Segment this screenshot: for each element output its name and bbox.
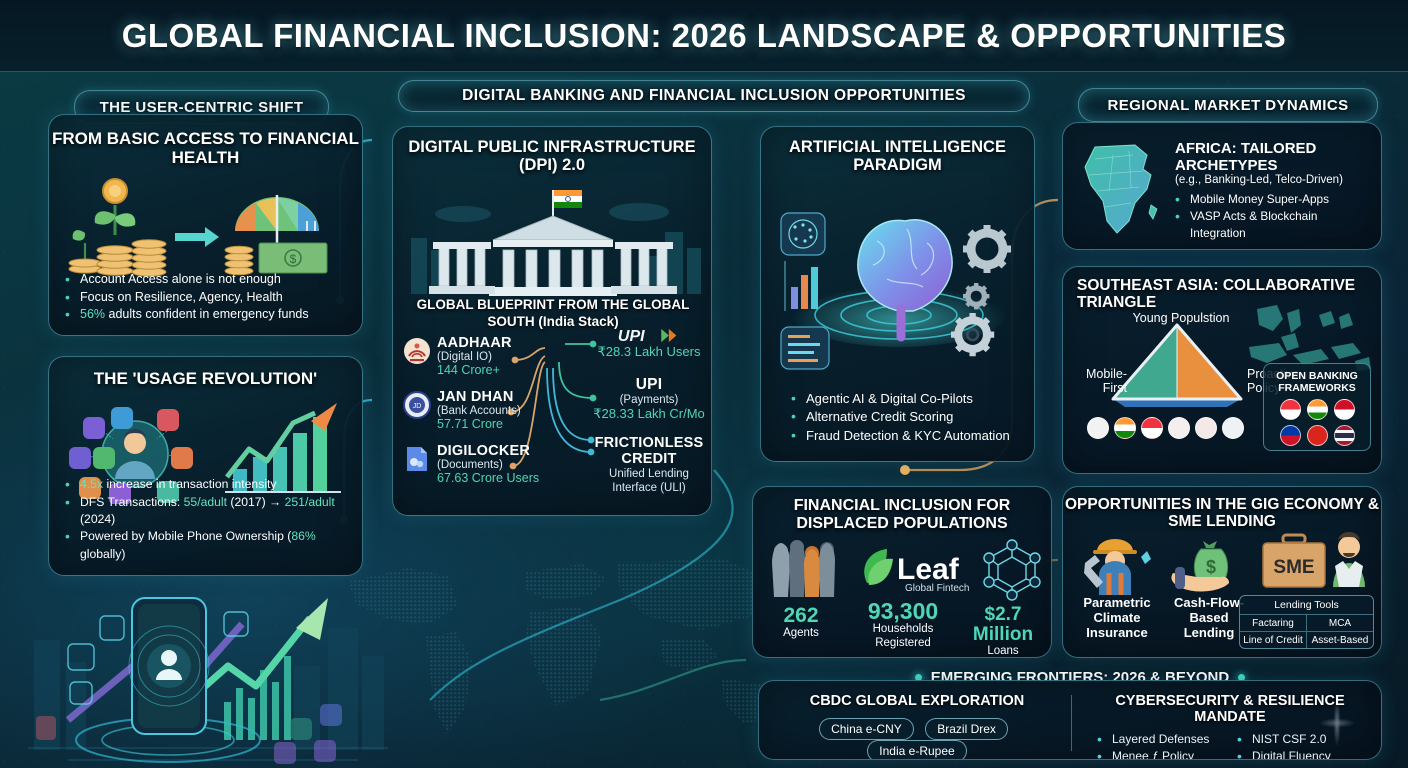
list-item: 4.5x increase in transaction intensity	[65, 476, 362, 493]
stack-name: FRICTIONLESS CREDIT	[589, 436, 709, 468]
philippines-flag	[1280, 425, 1301, 446]
stack-sub: (Documents)	[437, 459, 547, 471]
sme-briefcase-icon: SME	[1257, 531, 1377, 593]
usage-revolution-bullets: 4.5x increase in transaction intensity D…	[65, 476, 362, 563]
card-africa: AFRICA: TAILORED ARCHETYPES (e.g., Banki…	[1062, 122, 1382, 250]
stat-value: 93,300	[849, 599, 957, 623]
cyber-title: CYBERSECURITY & RESILIENCE MANDATE	[1083, 693, 1377, 725]
umbrella-savings-icon: $	[225, 195, 327, 275]
cyber-block: CYBERSECURITY & RESILIENCE MANDATE Layer…	[1083, 693, 1377, 760]
stack-name: AADHAAR	[437, 335, 547, 351]
list-item: Powered by Mobile Phone Ownership (86% g…	[65, 528, 362, 563]
upi-logo-icon: UPI	[616, 327, 682, 344]
list-item: Account Access alone is not enough	[65, 271, 309, 289]
triangle-label-left: Mobile-First	[1069, 367, 1127, 396]
aadhaar-icon	[403, 337, 431, 365]
africa-text-block: AFRICA: TAILORED ARCHETYPES (e.g., Banki…	[1175, 141, 1371, 241]
coin-plant-umbrella-illustration: $	[49, 173, 363, 285]
open-banking-flag-row-2	[1264, 425, 1370, 446]
card-title-ai: ARTIFICIAL INTELLIGENCE PARADIGM	[761, 138, 1034, 175]
stack-name: JAN DHAN	[437, 389, 547, 405]
card-title-dpi: DIGITAL PUBLIC INFRASTRUCTURE (DPI) 2.0	[393, 138, 711, 175]
stat-agents: 262 Agents	[763, 605, 839, 641]
cyber-bullets-left: Layered Defenses Menee ƒ Policy	[1097, 731, 1227, 760]
page-header: GLOBAL FINANCIAL INCLUSION: 2026 LANDSCA…	[0, 0, 1408, 72]
stat-value: 262	[763, 605, 839, 627]
stack-value: ₹28.3 Lakh Users	[589, 344, 709, 360]
card-financial-health: FROM BASIC ACCESS TO FINANCIAL HEALTH	[48, 114, 363, 336]
list-item: Alternative Credit Scoring	[791, 408, 1010, 426]
vietnam-badge	[1195, 417, 1217, 439]
cyber-bullet-columns: Layered Defenses Menee ƒ Policy NIST CSF…	[1083, 731, 1377, 760]
list-item: Layered Defenses	[1097, 731, 1227, 748]
blockchain-cube-icon	[981, 539, 1043, 601]
stack-item-digilocker: DIGILOCKER (Documents) 67.63 Crore Users	[437, 443, 547, 485]
stack-name: DIGILOCKER	[437, 443, 547, 459]
card-title-displaced: FINANCIAL INCLUSION FOR DISPLACED POPULA…	[753, 497, 1051, 533]
stat-value: $2.7 Million	[957, 605, 1049, 645]
card-gig-economy: OPPORTUNITIES IN THE GIG ECONOMY & SME L…	[1062, 486, 1382, 658]
table-row: Line of Credit Asset-Based	[1240, 631, 1373, 648]
stat-caption: Agents	[763, 627, 839, 641]
pill-india-erupee[interactable]: India e-Rupee	[867, 740, 966, 760]
card-emerging-frontiers: CBDC GLOBAL EXPLORATION China e-CNY Braz…	[758, 680, 1382, 760]
stack-item-aadhaar: AADHAAR (Digital IO) 144 Crore+	[437, 335, 547, 377]
gear-icon	[963, 225, 1011, 273]
svg-text:$: $	[1206, 557, 1216, 577]
list-item: Focus on Resilience, Agency, Health	[65, 289, 309, 307]
cbdc-block: CBDC GLOBAL EXPLORATION China e-CNY Braz…	[769, 693, 1065, 760]
card-title-financial-health: FROM BASIC ACCESS TO FINANCIAL HEALTH	[49, 129, 362, 167]
table-cell: Line of Credit	[1240, 632, 1306, 648]
cbdc-title: CBDC GLOBAL EXPLORATION	[769, 693, 1065, 709]
card-ai-paradigm: ARTIFICIAL INTELLIGENCE PARADIGM	[760, 126, 1035, 462]
open-banking-flag-row-1	[1264, 399, 1370, 420]
stack-sub: Unified Lending Interface (ULI)	[589, 468, 709, 496]
stack-name: UPI	[589, 376, 709, 394]
africa-subtitle: (e.g., Banking-Led, Telco-Driven)	[1175, 174, 1371, 186]
dpi-left-column: AADHAAR (Digital IO) 144 Crore+ JD JAN D…	[437, 335, 547, 494]
list-item: Fraud Detection & KYC Automation	[791, 427, 1010, 445]
section-label-digital-banking: DIGITAL BANKING AND FINANCIAL INCLUSION …	[398, 80, 1030, 112]
list-item: VASP Acts & Blockchain Integration	[1175, 208, 1371, 242]
stack-item-jandhan: JD JAN DHAN (Bank Accounts) 57.71 Crore	[437, 389, 547, 431]
stack-sub: (Digital IO)	[437, 351, 547, 363]
stack-value: 144 Crore+	[437, 363, 547, 377]
stack-sub: (Payments)	[589, 394, 709, 406]
africa-title: AFRICA: TAILORED ARCHETYPES	[1175, 141, 1371, 174]
singapore-badge	[1141, 417, 1163, 439]
cbdc-pill-row: China e-CNY Brazil Drex India e-Rupee	[769, 718, 1065, 760]
lending-tools-table: Lending Tools Factaring MCA Line of Cred…	[1239, 595, 1374, 649]
gig-caption-parametric: Parametric Climate Insurance	[1069, 595, 1165, 640]
ai-brain-illustration	[767, 187, 1031, 387]
sme-label: SME	[1273, 557, 1314, 578]
country-badge-row	[1087, 417, 1244, 439]
financial-health-bullets: Account Access alone is not enough Focus…	[65, 271, 309, 324]
table-row: Factaring MCA	[1240, 614, 1373, 631]
table-cell: Asset-Based	[1306, 632, 1373, 648]
africa-bullets: Mobile Money Super-Apps VASP Acts & Bloc…	[1175, 191, 1371, 241]
mobile-growth-illustration	[28, 570, 388, 768]
vietnam-flag	[1307, 425, 1328, 446]
card-title-usage-revolution: THE 'USAGE REVOLUTION'	[49, 369, 362, 388]
svg-text:UPI: UPI	[618, 327, 645, 344]
dpi-right-column: UPI ₹28.3 Lakh Users UPI (Payments) ₹28.…	[589, 327, 709, 504]
card-title-gig: OPPORTUNITIES IN THE GIG ECONOMY & SME L…	[1063, 496, 1381, 531]
coin-plant-icon	[69, 179, 166, 276]
divider	[1071, 695, 1072, 751]
pill-brazil-drex[interactable]: Brazil Drex	[925, 718, 1008, 740]
india-flag	[1307, 399, 1328, 420]
open-banking-title: OPEN BANKING FRAMEWORKS	[1264, 364, 1370, 394]
singapore-flag	[1280, 399, 1301, 420]
lending-tools-header: Lending Tools	[1240, 596, 1373, 614]
list-item: Mobile Money Super-Apps	[1175, 191, 1371, 208]
stack-sub: (Bank Accounts)	[437, 405, 547, 417]
section-label-regional: REGIONAL MARKET DYNAMICS	[1078, 88, 1378, 122]
card-dpi: DIGITAL PUBLIC INFRASTRUCTURE (DPI) 2.0	[392, 126, 712, 516]
leaf-icon: Leaf Global Fintech	[849, 543, 969, 595]
document-icon	[781, 327, 829, 369]
neural-net-icon	[781, 213, 825, 255]
digilocker-icon	[403, 445, 431, 473]
svg-text:Leaf: Leaf	[897, 553, 960, 586]
triangle-label-top: Young Populstion	[1131, 311, 1231, 325]
list-item: Digital Fluency Programs	[1237, 748, 1377, 760]
open-banking-frameworks-box: OPEN BANKING FRAMEWORKS	[1263, 363, 1371, 451]
government-bank-illustration	[393, 182, 712, 302]
svg-text:JD: JD	[413, 403, 422, 410]
table-cell: MCA	[1306, 615, 1373, 631]
jandhan-icon: JD	[403, 391, 431, 419]
stack-item-upi-payments: UPI (Payments) ₹28.33 Lakh Cr/Mo	[589, 376, 709, 422]
stack-item-frictionless-credit: FRICTIONLESS CREDIT Unified Lending Inte…	[589, 436, 709, 495]
stat-households: 93,300 Households Registered	[849, 599, 957, 650]
bar-chart-icon	[785, 261, 818, 311]
svg-text:Global Fintech: Global Fintech	[905, 583, 969, 594]
arrow-right-icon	[175, 227, 219, 247]
stat-caption: Households Registered	[849, 623, 957, 650]
list-item: NIST CSF 2.0	[1237, 731, 1377, 748]
card-displaced-populations: FINANCIAL INCLUSION FOR DISPLACED POPULA…	[752, 486, 1052, 658]
india-badge	[1114, 417, 1136, 439]
stat-loans: $2.7 Million Loans	[957, 605, 1049, 658]
stack-item-upi-users: UPI ₹28.3 Lakh Users	[589, 327, 709, 360]
svg-text:$: $	[290, 252, 297, 266]
card-usage-revolution: THE 'USAGE REVOLUTION'	[48, 356, 363, 576]
cyber-bullets-right: NIST CSF 2.0 Digital Fluency Programs	[1237, 731, 1377, 760]
korea-badge	[1222, 417, 1244, 439]
money-bag-hand-icon: $	[1171, 535, 1251, 595]
list-item: Agentic AI & Digital Co-Pilots	[791, 390, 1010, 408]
stat-caption: Loans	[957, 645, 1049, 658]
ai-bullets: Agentic AI & Digital Co-Pilots Alternati…	[791, 390, 1010, 445]
pill-china-ecny[interactable]: China e-CNY	[819, 718, 914, 740]
africa-map-icon	[1073, 141, 1167, 239]
thailand-flag	[1334, 425, 1355, 446]
card-southeast-asia: SOUTHEAST ASIA: COLLABORATIVE TRIANGLE Y…	[1062, 266, 1382, 474]
collaborative-triangle-diagram	[1077, 313, 1277, 417]
table-cell: Factaring	[1240, 615, 1306, 631]
stack-value: 57.71 Crore	[437, 417, 547, 431]
list-item: DFS Transactions: 55/adult (2017) → 251/…	[65, 494, 362, 529]
india-flag-icon	[554, 190, 582, 208]
people-group-icon	[767, 539, 839, 603]
stack-value: ₹28.33 Lakh Cr/Mo	[589, 406, 709, 422]
malaysia-badge	[1087, 417, 1109, 439]
worker-wrench-icon	[1079, 535, 1153, 595]
indonesia-flag	[1334, 399, 1355, 420]
list-item: 56% adults confident in emergency funds	[65, 306, 309, 324]
page-title: GLOBAL FINANCIAL INCLUSION: 2026 LANDSCA…	[122, 17, 1287, 55]
philippines-badge	[1168, 417, 1190, 439]
stack-value: 67.63 Crore Users	[437, 471, 547, 485]
list-item: Menee ƒ Policy	[1097, 748, 1227, 760]
